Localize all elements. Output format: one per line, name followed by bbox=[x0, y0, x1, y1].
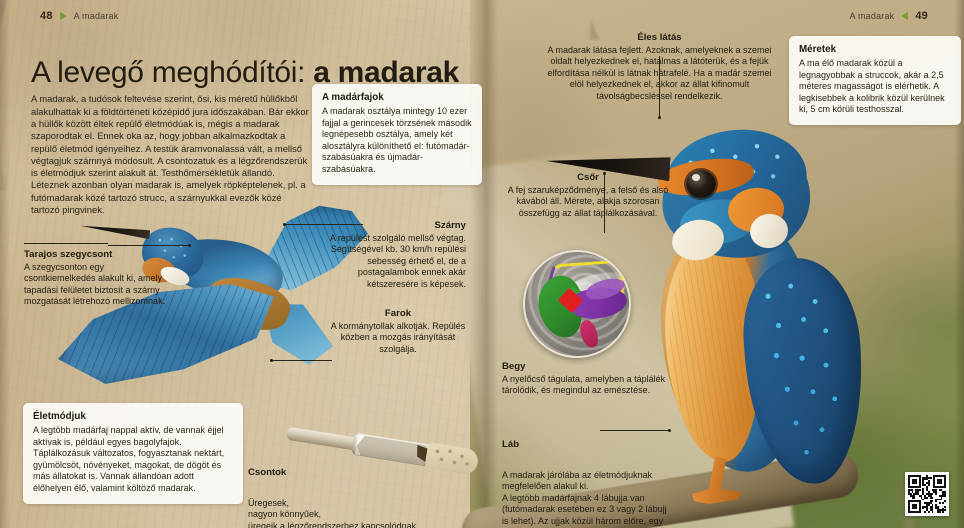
callout-farok-body: A kormánytollak alkotják. Repülés közben… bbox=[330, 321, 466, 355]
triangle-right-icon bbox=[60, 12, 67, 20]
leader-dot-szarny bbox=[283, 223, 286, 226]
bird-digestive-anatomy-diagram bbox=[523, 250, 631, 358]
callout-lab: Láb A madarak járólába az életmódjuknak … bbox=[502, 421, 670, 528]
running-head-right: A madarak 49 bbox=[850, 10, 928, 22]
callout-begy-body: A nyelőcső tágulata, amelyben a táplálék… bbox=[502, 374, 672, 397]
callout-csor: Csőr A fej szaruképződménye, a felső és … bbox=[500, 172, 676, 219]
panel-eletmodjuk-body: A legtöbb madárfaj nappal aktív, de vann… bbox=[33, 425, 233, 495]
leader-dot-tarajos bbox=[188, 244, 191, 247]
leader-dot-eles-latas bbox=[658, 116, 661, 119]
panel-meretek: Méretek A ma élő madarak közül a legnagy… bbox=[789, 36, 961, 125]
callout-tarajos-rule bbox=[24, 243, 108, 244]
leader-line-farok bbox=[272, 360, 332, 361]
panel-eletmodjuk-title: Életmódjuk bbox=[33, 411, 233, 422]
callout-eles-latas: Éles látás A madarak látása fejlett. Azo… bbox=[540, 32, 779, 102]
panel-madarfajok-body: A madarak osztálya mintegy 10 ezer fajja… bbox=[322, 106, 472, 176]
callout-csontok: Csontok Üregesek, nagyon könnyűek, ürege… bbox=[248, 449, 454, 528]
leader-dot-farok bbox=[270, 359, 273, 362]
leader-line-tarajos bbox=[108, 245, 190, 246]
book-spread: 48 A madarak A madarak 49 A levegő meghó… bbox=[0, 0, 964, 528]
callout-farok-title: Farok bbox=[330, 308, 466, 319]
callout-szarny: Szárny A repülést szolgáló mellső végtag… bbox=[328, 220, 466, 290]
callout-csor-title: Csőr bbox=[500, 172, 676, 183]
triangle-left-icon bbox=[901, 12, 908, 20]
panel-madarfajok-title: A madárfajok bbox=[322, 92, 472, 103]
callout-lab-body: A madarak járólába az életmódjuknak megf… bbox=[502, 470, 670, 528]
left-page-edge-shadow bbox=[0, 0, 10, 528]
panel-meretek-body: A ma élő madarak közül a legnagyobbak a … bbox=[799, 58, 951, 116]
qr-code[interactable] bbox=[905, 472, 949, 516]
callout-csor-body: A fej szaruképződménye, a felső és alsó … bbox=[500, 185, 676, 219]
callout-farok: Farok A kormánytollak alkotják. Repülés … bbox=[330, 308, 466, 355]
panel-eletmodjuk: Életmódjuk A legtöbb madárfaj nappal akt… bbox=[23, 403, 243, 504]
page-number-right: 49 bbox=[915, 10, 928, 22]
callout-csontok-title: Csontok bbox=[248, 467, 454, 478]
callout-begy: Begy A nyelőcső tágulata, amelyben a táp… bbox=[502, 361, 672, 397]
callout-eles-latas-title: Éles látás bbox=[540, 32, 779, 43]
callout-begy-title: Begy bbox=[502, 361, 672, 372]
callout-lab-title: Láb bbox=[502, 439, 670, 450]
callout-tarajos-body: A szegycsonton egy csontkiemelkedés alak… bbox=[24, 262, 174, 308]
callout-eles-latas-body: A madarak látása fejlett. Azoknak, amely… bbox=[540, 45, 779, 102]
panel-madarfajok: A madárfajok A madarak osztálya mintegy … bbox=[312, 84, 482, 185]
panel-meretek-title: Méretek bbox=[799, 44, 951, 55]
section-title-left: A madarak bbox=[74, 11, 119, 21]
callout-tarajos-title: Tarajos szegycsont bbox=[24, 249, 174, 260]
page-title-light: A levegő meghódítói: bbox=[31, 56, 313, 89]
running-head-left: 48 A madarak bbox=[40, 10, 118, 22]
page-number-left: 48 bbox=[40, 10, 53, 22]
callout-csontok-body: Üregesek, nagyon könnyűek, üregeik a lég… bbox=[248, 498, 454, 528]
callout-tarajos-szegycsont: Tarajos szegycsont A szegycsonton egy cs… bbox=[24, 249, 174, 308]
section-title-right: A madarak bbox=[850, 11, 895, 21]
callout-szarny-title: Szárny bbox=[328, 220, 466, 231]
callout-szarny-body: A repülést szolgáló mellső végtag. Segít… bbox=[328, 233, 466, 290]
